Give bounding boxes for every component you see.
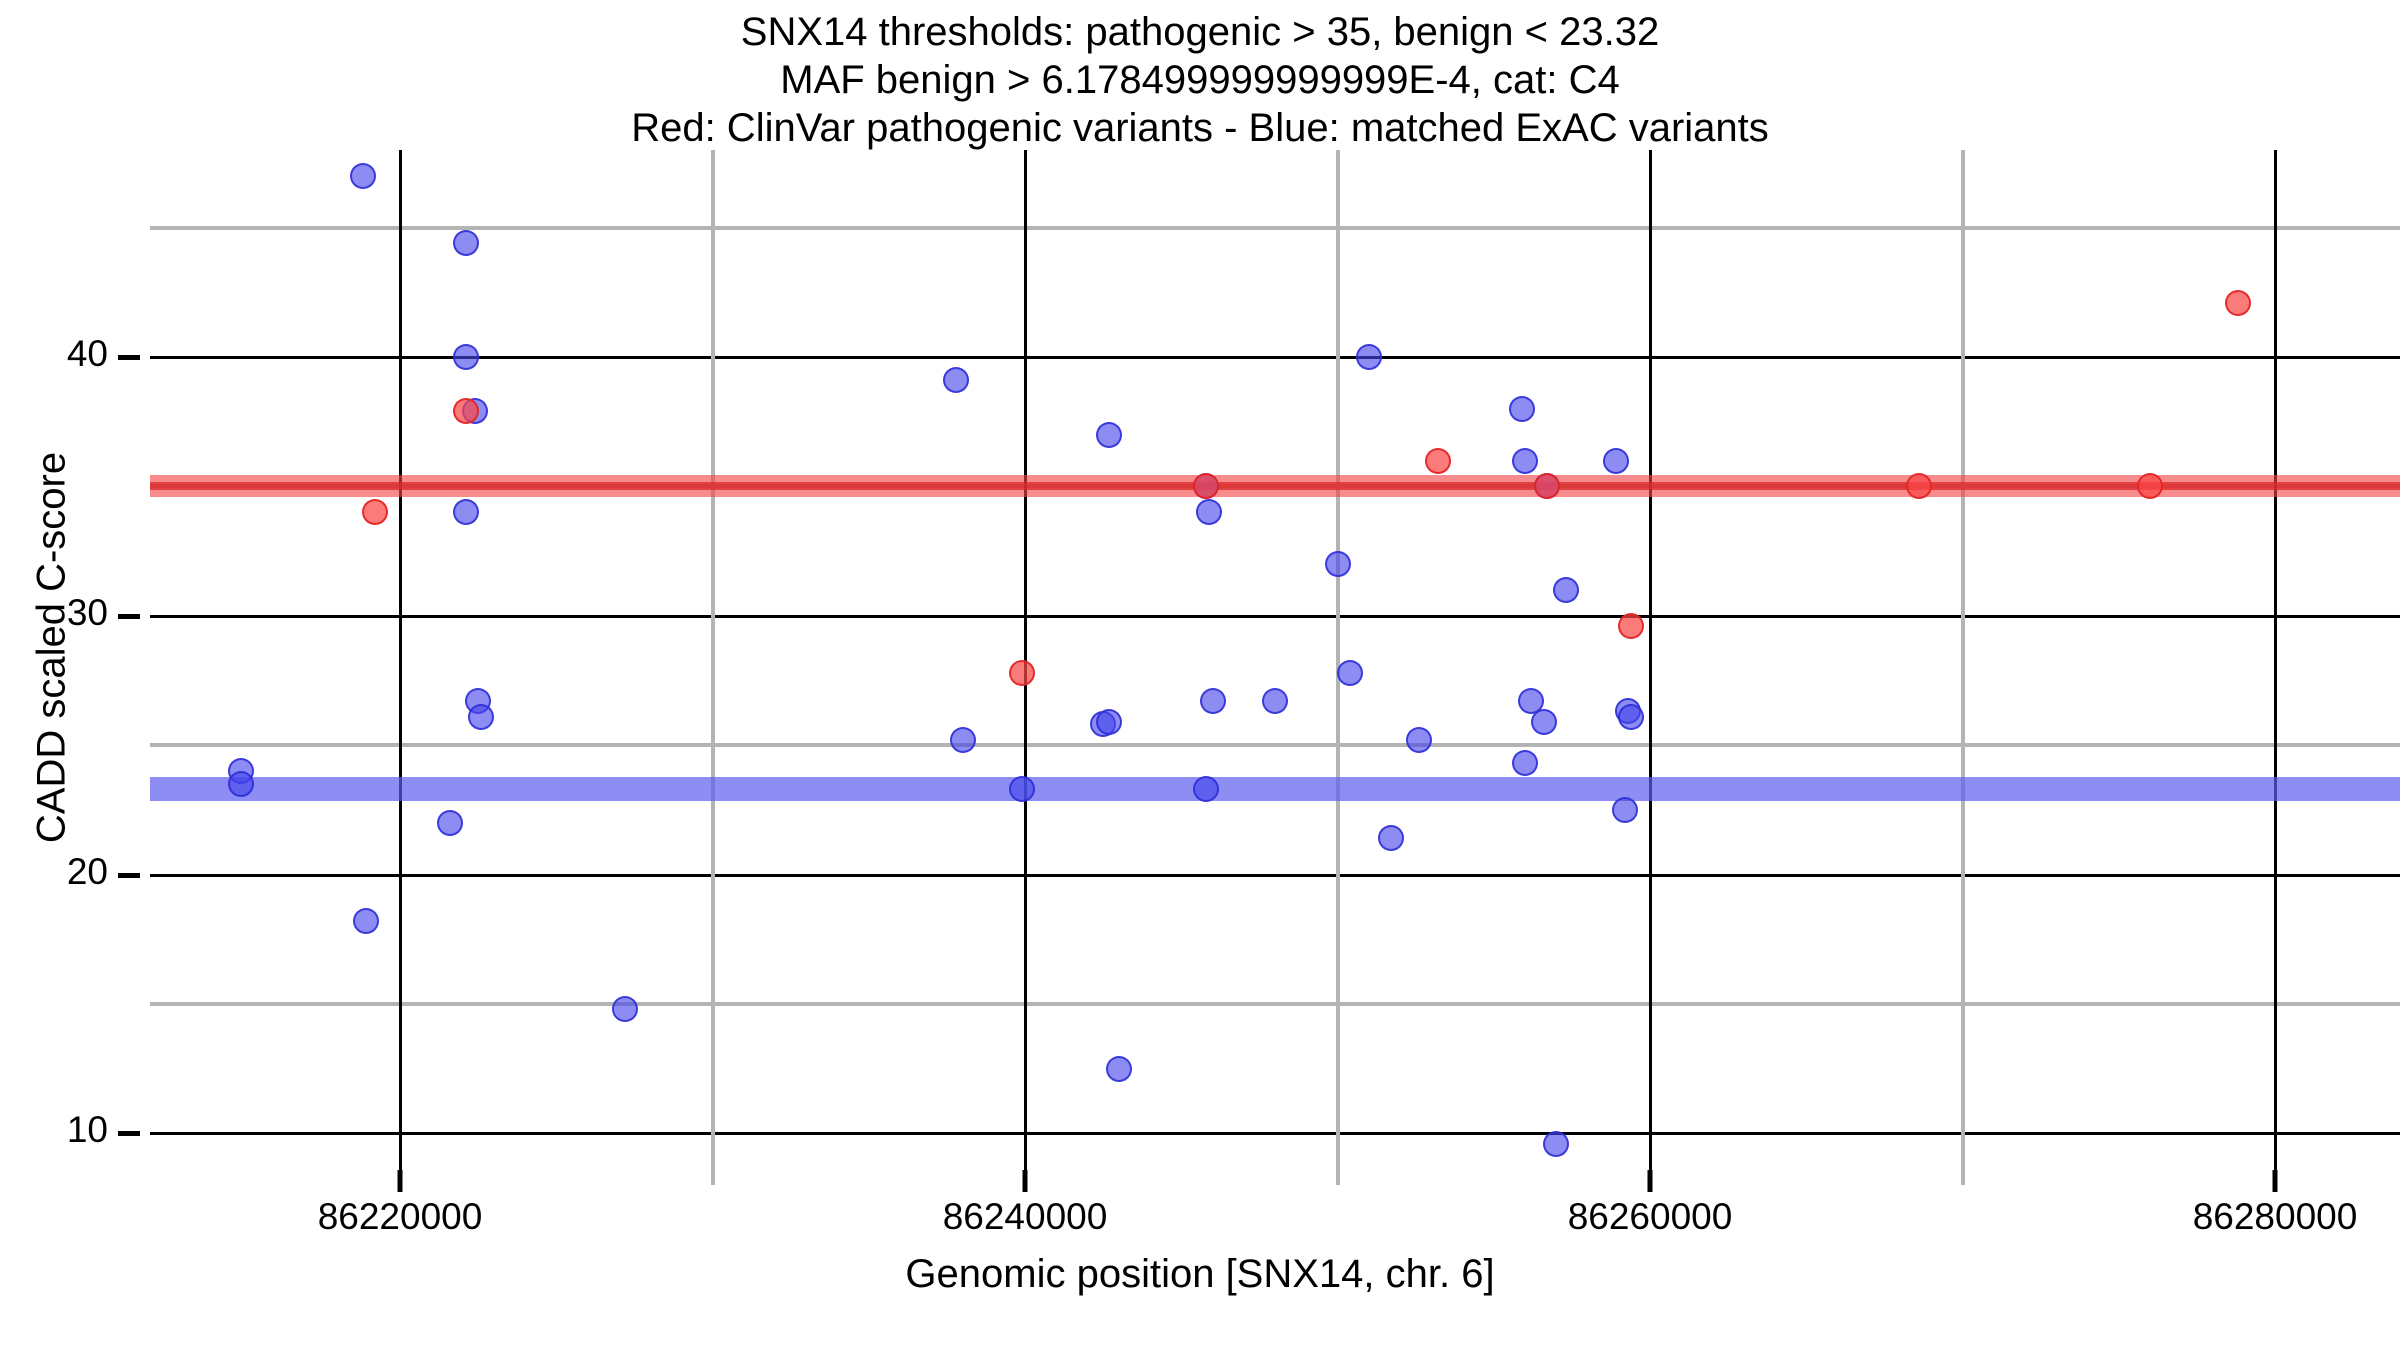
gridline-minor-horizontal [150,1002,2400,1006]
data-point-benign [1096,709,1122,735]
data-point-pathogenic [1009,660,1035,686]
x-axis-tick-mark [2273,1170,2278,1192]
data-point-benign [1325,551,1351,577]
data-point-benign [1200,688,1226,714]
gridline-major-horizontal [150,615,2400,618]
threshold-line-core [150,482,2400,490]
data-point-pathogenic [1906,473,1932,499]
y-axis-title: CADD scaled C-score [30,328,75,968]
data-point-benign [1096,422,1122,448]
data-point-benign [1603,448,1629,474]
gridline-major-vertical [1649,150,1652,1185]
data-point-pathogenic [1425,448,1451,474]
threshold-line-pathogenic [150,475,2400,497]
scatter-plot-figure: SNX14 thresholds: pathogenic > 35, benig… [0,0,2400,1350]
x-axis-title: Genomic position [SNX14, chr. 6] [0,1252,2400,1297]
data-point-benign [1512,448,1538,474]
gridline-minor-horizontal [150,226,2400,230]
data-point-benign [1553,577,1579,603]
x-axis-tick-mark [398,1170,403,1192]
data-point-benign [1618,704,1644,730]
threshold-line-benign [150,777,2400,801]
x-axis-tick-label: 86220000 [318,1196,483,1238]
data-point-benign [612,996,638,1022]
data-point-pathogenic [362,499,388,525]
gridline-minor-vertical [711,150,715,1185]
data-point-benign [1406,727,1432,753]
data-point-benign [950,727,976,753]
chart-title-line-1: SNX14 thresholds: pathogenic > 35, benig… [0,8,2400,56]
gridline-minor-vertical [1961,150,1965,1185]
data-point-pathogenic [1618,613,1644,639]
data-point-benign [1356,344,1382,370]
y-axis-tick-mark [118,1131,140,1136]
data-point-benign [453,344,479,370]
y-axis-tick-mark [118,355,140,360]
chart-title: SNX14 thresholds: pathogenic > 35, benig… [0,8,2400,152]
gridline-major-horizontal [150,1132,2400,1135]
x-axis-tick-label: 86280000 [2193,1196,2358,1238]
data-point-benign [468,704,494,730]
gridline-major-vertical [2274,150,2277,1185]
data-point-benign [1543,1131,1569,1157]
data-point-benign [1378,825,1404,851]
data-point-benign [1531,709,1557,735]
gridline-major-vertical [399,150,402,1185]
gridline-major-horizontal [150,356,2400,359]
data-point-benign [1337,660,1363,686]
data-point-benign [453,230,479,256]
data-point-pathogenic [2225,290,2251,316]
y-axis-tick-mark [118,614,140,619]
data-point-benign [1262,688,1288,714]
data-point-benign [453,499,479,525]
gridline-major-horizontal [150,874,2400,877]
data-point-benign [1509,396,1535,422]
data-point-benign [353,908,379,934]
x-axis-tick-mark [1648,1170,1653,1192]
data-point-pathogenic [453,398,479,424]
data-point-benign [228,771,254,797]
chart-title-line-2: MAF benign > 6.178499999999999E-4, cat: … [0,56,2400,104]
data-point-benign [1512,750,1538,776]
gridline-minor-horizontal [150,743,2400,747]
x-axis-tick-label: 86260000 [1568,1196,1733,1238]
data-point-benign [1009,776,1035,802]
x-axis-tick-label: 86240000 [943,1196,1108,1238]
x-axis-tick-mark [1023,1170,1028,1192]
y-axis-tick-mark [118,873,140,878]
data-point-benign [943,367,969,393]
data-point-benign [350,163,376,189]
data-point-benign [1196,499,1222,525]
data-point-benign [1106,1056,1132,1082]
plot-area [150,150,2400,1185]
chart-title-line-3: Red: ClinVar pathogenic variants - Blue:… [0,104,2400,152]
data-point-benign [437,810,463,836]
data-point-benign [1612,797,1638,823]
y-axis-tick-label: 10 [0,1109,108,1151]
